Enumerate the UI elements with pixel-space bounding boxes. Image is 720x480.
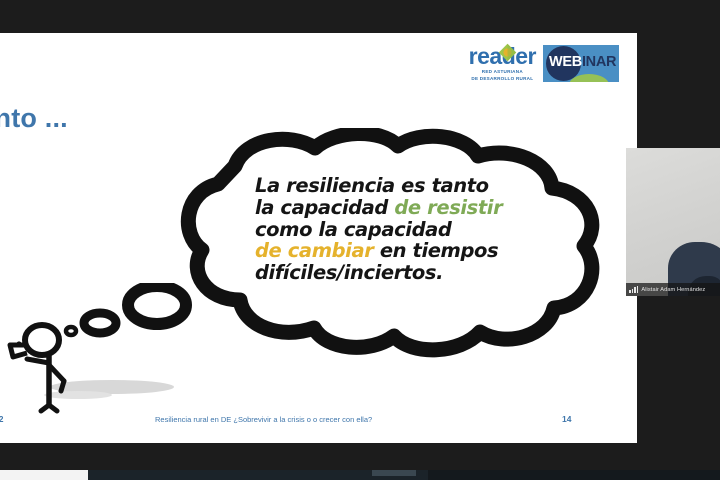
app-toolbar[interactable] xyxy=(0,470,720,480)
stick-figure-illustration xyxy=(0,283,200,418)
toolbar-left-segment xyxy=(0,470,88,480)
quote-line-1: La resiliencia es tanto xyxy=(255,174,489,197)
webinar-label-primary: WEB xyxy=(549,54,582,70)
webinar-badge: WEBINAR xyxy=(543,45,619,82)
shared-slide[interactable]: lo tanto ... reader Red Asturiana de Des… xyxy=(0,33,637,443)
leaf-icon xyxy=(498,43,517,62)
page-title: lo tanto ... xyxy=(0,103,68,134)
quote-line-3: como la capacidad xyxy=(255,218,451,241)
webinar-label: WEBINAR xyxy=(549,54,616,70)
video-feed xyxy=(626,148,720,296)
reader-wordmark: reader xyxy=(469,45,536,68)
participant-name: Alistair Adam Hernández xyxy=(641,287,705,293)
quote-line-4-highlight: de cambiar xyxy=(255,239,373,262)
webinar-label-secondary: INAR xyxy=(582,54,616,70)
stick-figure-shape xyxy=(0,283,200,418)
reader-subtitle-line2: de Desarrollo Rural xyxy=(469,76,536,82)
footer-page-left: 22 xyxy=(0,414,3,424)
logo-area: reader Red Asturiana de Desarrollo Rural… xyxy=(469,45,619,82)
signal-strength-icon xyxy=(629,286,638,293)
footer-title: Resiliencia rural en DE ¿Sobrevivir a la… xyxy=(155,415,372,424)
quote-line-2-highlight: de resistir xyxy=(394,196,502,219)
toolbar-highlight-segment xyxy=(372,470,416,476)
quote-line-5: difíciles/inciertos. xyxy=(255,261,443,284)
slide-footer: 22 Resiliencia rural en DE ¿Sobrevivir a… xyxy=(0,414,637,430)
participant-video-tile[interactable]: Alistair Adam Hernández xyxy=(626,148,720,296)
video-conference-window: lo tanto ... reader Red Asturiana de Des… xyxy=(0,0,720,480)
reader-logo: reader Red Asturiana de Desarrollo Rural xyxy=(469,45,536,81)
quote-text: La resiliencia es tanto la capacidad de … xyxy=(255,175,540,284)
quote-line-4-plain: en tiempos xyxy=(373,239,498,262)
quote-line-2-plain: la capacidad xyxy=(255,196,394,219)
participant-name-bar: Alistair Adam Hernández xyxy=(626,283,720,296)
footer-slide-number: 14 xyxy=(562,414,571,424)
